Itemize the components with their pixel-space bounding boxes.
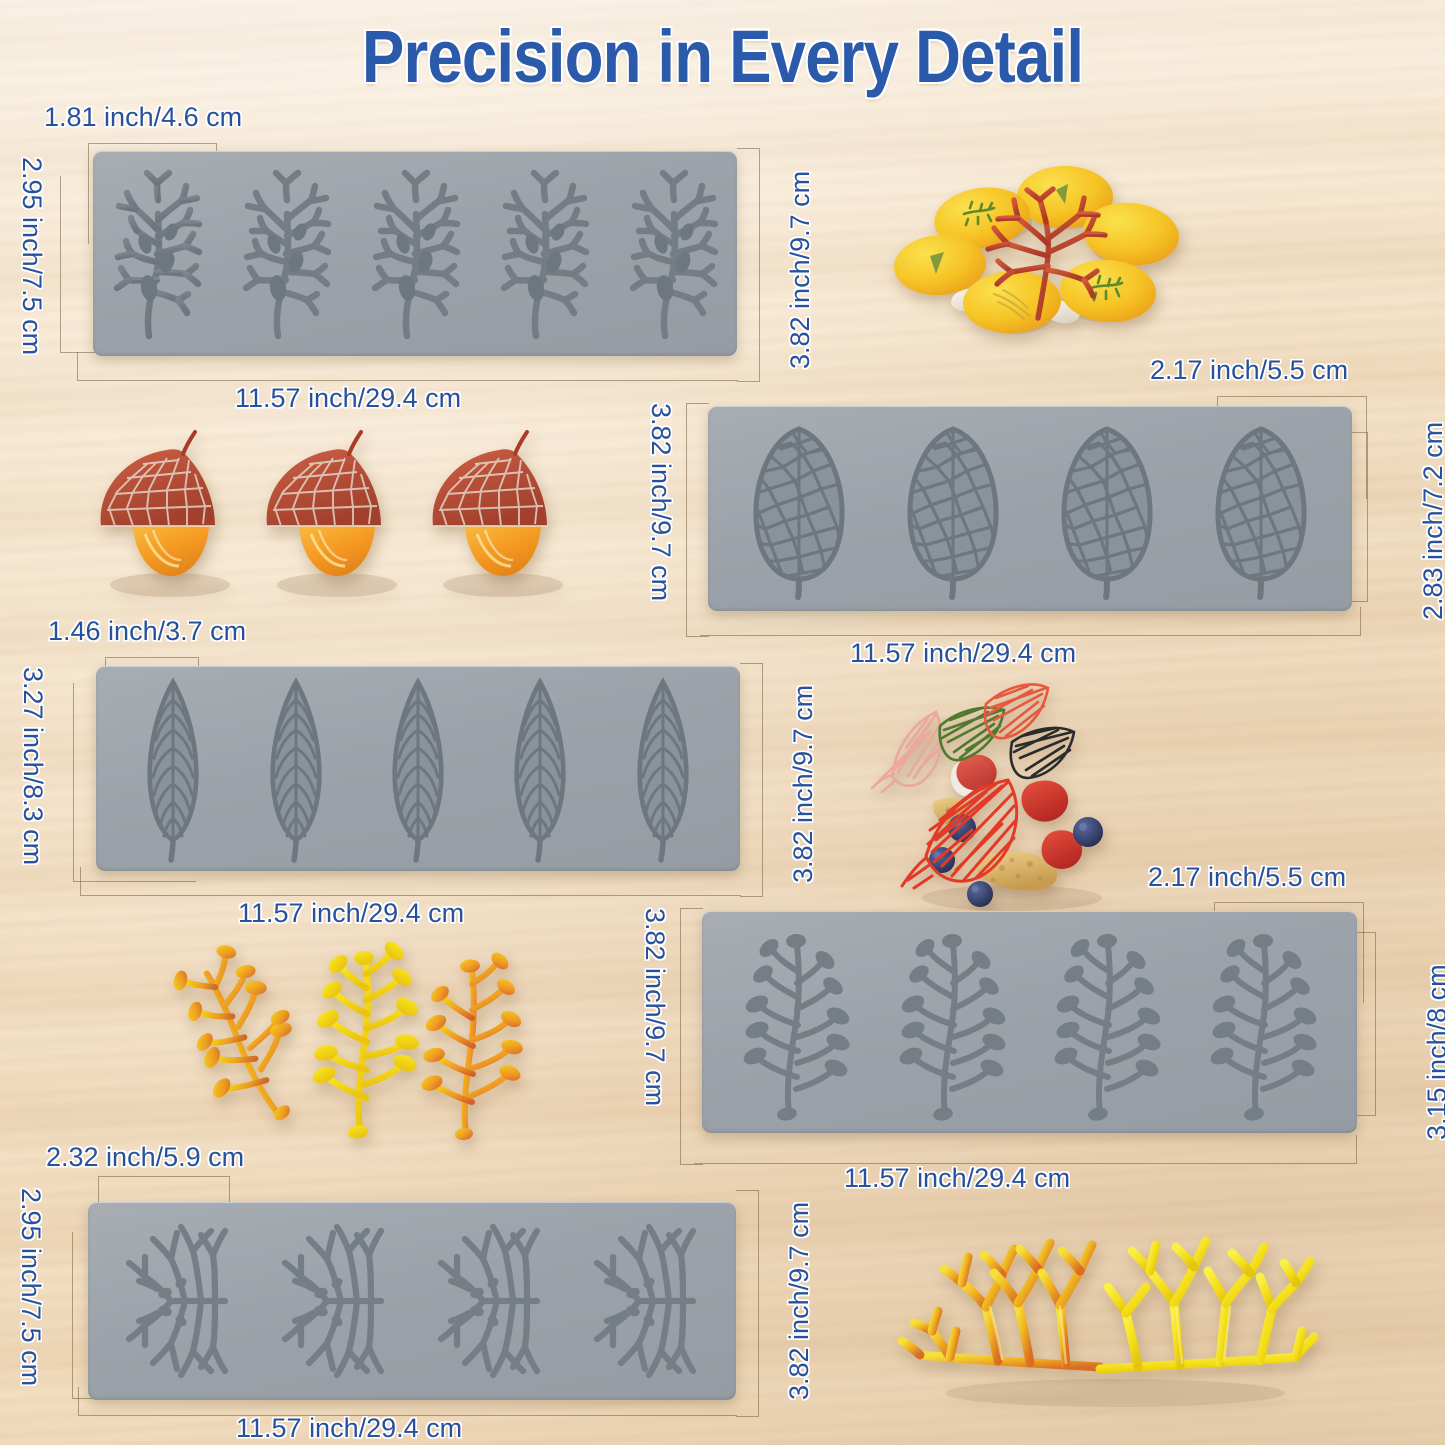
mold3-cavity-row: [96, 666, 740, 871]
mold2-cavity-height-label: 2.83 inch/7.2 cm: [1418, 422, 1445, 620]
cavity-mosaic-veined-leaf[interactable]: [743, 421, 855, 597]
mold3-height-label: 3.82 inch/9.7 cm: [788, 685, 818, 883]
cavity-branching-coral-tree[interactable]: [363, 170, 467, 338]
mold5-height-label: 3.82 inch/9.7 cm: [784, 1202, 814, 1400]
cavity-sea-coral-fan[interactable]: [583, 1217, 709, 1385]
mold4-width-label: 11.57 inch/29.4 cm: [844, 1163, 1070, 1193]
photo-plated-berry-dessert: [862, 680, 1162, 915]
cavity-sea-coral-fan[interactable]: [427, 1217, 553, 1385]
mold4-height-label: 3.82 inch/9.7 cm: [640, 908, 670, 1106]
cavity-leafy-branch-sprig[interactable]: [1204, 927, 1322, 1117]
mold5-cavity-width-label: 2.32 inch/5.9 cm: [46, 1142, 244, 1172]
cavity-feather-willow-leaf[interactable]: [503, 678, 577, 860]
cavity-feather-willow-leaf[interactable]: [381, 678, 455, 860]
cavity-branching-coral-tree[interactable]: [492, 170, 596, 338]
cavity-sea-coral-fan[interactable]: [115, 1217, 241, 1385]
photo-mango-discs-coral: [872, 160, 1182, 360]
cavity-mosaic-veined-leaf[interactable]: [1051, 421, 1163, 597]
cavity-leafy-branch-sprig[interactable]: [893, 927, 1011, 1117]
mold3-cavity-height-label: 3.27 inch/8.3 cm: [18, 667, 48, 865]
cavity-branching-coral-tree[interactable]: [234, 170, 338, 338]
mold1-cavity-height-label: 2.95 inch/7.5 cm: [17, 157, 47, 355]
cavity-mosaic-veined-leaf[interactable]: [1205, 421, 1317, 597]
cavity-branching-coral-tree[interactable]: [105, 170, 209, 338]
mold3-width-label: 11.57 inch/29.4 cm: [238, 898, 464, 928]
cavity-feather-willow-leaf[interactable]: [259, 678, 333, 860]
cavity-leafy-branch-sprig[interactable]: [737, 927, 855, 1117]
mold5-cavity-height-label: 2.95 inch/7.5 cm: [16, 1188, 46, 1386]
page-title: Precision in Every Detail: [101, 18, 1344, 96]
mold1-width-label: 11.57 inch/29.4 cm: [235, 383, 461, 413]
mold1-cavity-width-label: 1.81 inch/4.6 cm: [44, 102, 242, 132]
cavity-feather-willow-leaf[interactable]: [626, 678, 700, 860]
mold2-height-label: 3.82 inch/9.7 cm: [646, 403, 676, 601]
mold1-height-label: 3.82 inch/9.7 cm: [785, 171, 815, 369]
mold-sea-coral[interactable]: [88, 1202, 736, 1400]
mold-mosaic-leaf[interactable]: [708, 406, 1352, 611]
mold4-cavity-row: [702, 911, 1357, 1133]
mold5-cavity-row: [88, 1202, 736, 1400]
cavity-mosaic-veined-leaf[interactable]: [897, 421, 1009, 597]
cavity-sea-coral-fan[interactable]: [271, 1217, 397, 1385]
photo-coral-pair: [890, 1215, 1340, 1415]
mold1-cavity-row: [93, 151, 737, 356]
photo-acorn-desserts: [75, 430, 585, 600]
mold2-width-label: 11.57 inch/29.4 cm: [850, 638, 1076, 668]
mold-feather-leaf[interactable]: [96, 666, 740, 871]
mold-leafy-sprig[interactable]: [702, 911, 1357, 1133]
mold4-cavity-height-label: 3.15 inch/8 cm: [1422, 964, 1445, 1140]
mold2-cavity-width-label: 2.17 inch/5.5 cm: [1150, 355, 1348, 385]
mold2-cavity-row: [708, 406, 1352, 611]
mold-coral-tree[interactable]: [93, 151, 737, 356]
cavity-feather-willow-leaf[interactable]: [136, 678, 210, 860]
cavity-branching-coral-tree[interactable]: [621, 170, 725, 338]
mold5-width-label: 11.57 inch/29.4 cm: [236, 1413, 462, 1443]
mold4-cavity-width-label: 2.17 inch/5.5 cm: [1148, 862, 1346, 892]
cavity-leafy-branch-sprig[interactable]: [1048, 927, 1166, 1117]
mold3-cavity-width-label: 1.46 inch/3.7 cm: [48, 616, 246, 646]
photo-yellow-sprigs: [152, 940, 552, 1145]
